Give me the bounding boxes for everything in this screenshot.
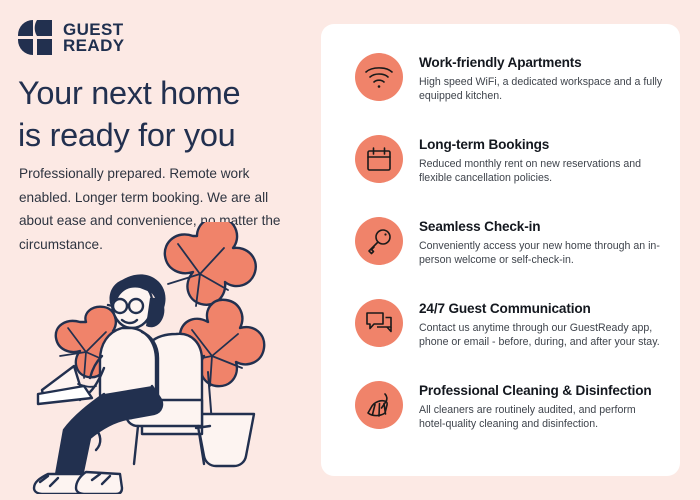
brand-logo[interactable]: GUEST READY xyxy=(17,19,125,56)
headline-line-1: Your next home xyxy=(18,75,240,111)
broom-icon xyxy=(355,381,403,429)
promo-page: GUEST READY Your next home is ready for … xyxy=(0,0,700,500)
feature-description: Conveniently access your new home throug… xyxy=(419,239,665,268)
features-card: Work-friendly Apartments High speed WiFi… xyxy=(321,24,680,476)
hero-illustration xyxy=(30,222,305,494)
key-icon xyxy=(355,217,403,265)
feature-title: Long-term Bookings xyxy=(419,136,665,154)
feature-item[interactable]: Long-term Bookings Reduced monthly rent … xyxy=(355,135,665,217)
feature-text: Seamless Check-in Conveniently access yo… xyxy=(419,217,665,268)
brand-name-line2: READY xyxy=(63,38,125,54)
hero-column: GUEST READY Your next home is ready for … xyxy=(0,0,320,500)
chat-bubbles-icon xyxy=(355,299,403,347)
feature-title: Professional Cleaning & Disinfection xyxy=(419,382,665,400)
feature-item[interactable]: 24/7 Guest Communication Contact us anyt… xyxy=(355,299,665,381)
feature-title: 24/7 Guest Communication xyxy=(419,300,665,318)
feature-text: Professional Cleaning & Disinfection All… xyxy=(419,381,665,432)
feature-text: Long-term Bookings Reduced monthly rent … xyxy=(419,135,665,186)
page-title: Your next home is ready for you xyxy=(18,72,308,156)
feature-item[interactable]: Professional Cleaning & Disinfection All… xyxy=(355,381,665,432)
feature-description: High speed WiFi, a dedicated workspace a… xyxy=(419,75,665,104)
feature-title: Seamless Check-in xyxy=(419,218,665,236)
feature-text: Work-friendly Apartments High speed WiFi… xyxy=(419,53,665,104)
headline-line-2: is ready for you xyxy=(18,114,308,156)
feature-text: 24/7 Guest Communication Contact us anyt… xyxy=(419,299,665,350)
calendar-icon xyxy=(355,135,403,183)
feature-description: Contact us anytime through our GuestRead… xyxy=(419,321,665,350)
features-list: Work-friendly Apartments High speed WiFi… xyxy=(355,53,665,432)
feature-description: All cleaners are routinely audited, and … xyxy=(419,403,665,432)
wifi-icon xyxy=(355,53,403,101)
guestready-quadrant-logo-icon xyxy=(17,19,53,56)
feature-item[interactable]: Work-friendly Apartments High speed WiFi… xyxy=(355,53,665,135)
feature-description: Reduced monthly rent on new reservations… xyxy=(419,157,665,186)
brand-wordmark: GUEST READY xyxy=(63,22,125,54)
feature-title: Work-friendly Apartments xyxy=(419,54,665,72)
feature-item[interactable]: Seamless Check-in Conveniently access yo… xyxy=(355,217,665,299)
